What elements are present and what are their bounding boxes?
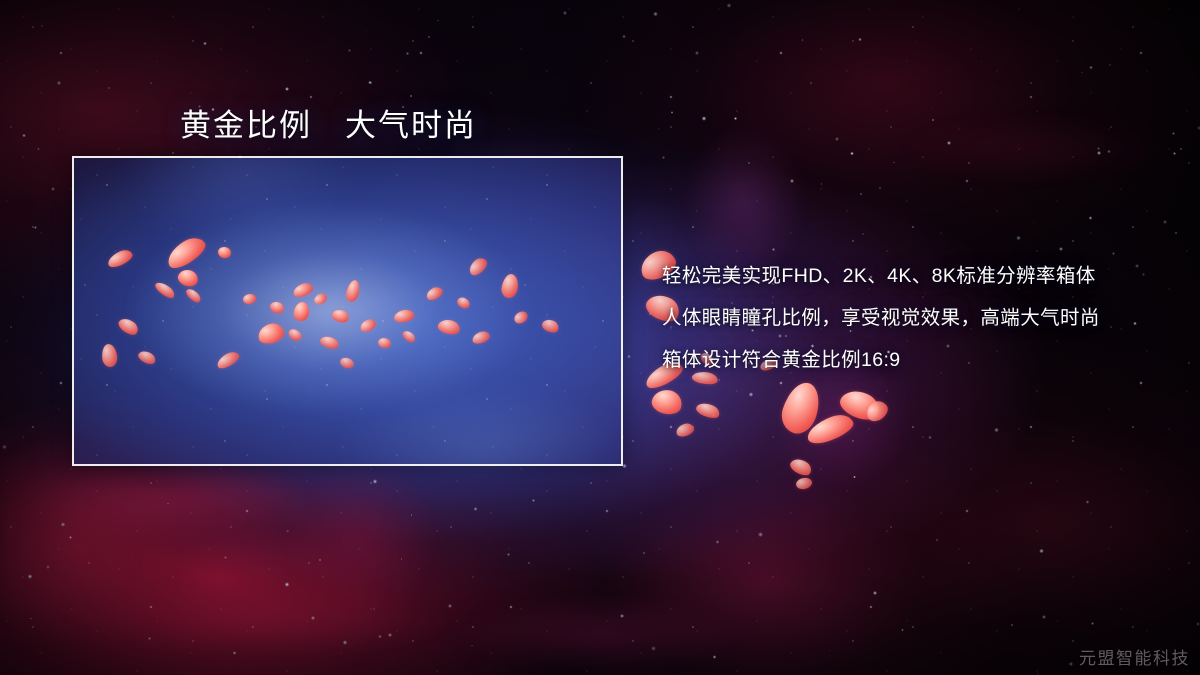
star — [22, 134, 25, 137]
petal — [256, 321, 286, 346]
star — [148, 637, 151, 640]
petal — [312, 291, 328, 306]
star — [712, 414, 715, 417]
star — [311, 616, 316, 621]
star — [893, 162, 895, 164]
framed-nebula-core — [74, 158, 621, 464]
star — [749, 392, 753, 396]
petal — [268, 299, 285, 315]
star — [790, 179, 794, 183]
star — [981, 61, 982, 62]
petal — [339, 356, 356, 370]
star — [1059, 247, 1063, 251]
star — [1107, 150, 1111, 154]
star — [30, 618, 32, 620]
petal — [804, 410, 857, 447]
petal — [345, 279, 362, 303]
framed-nebula-background — [74, 158, 621, 464]
star — [507, 553, 510, 556]
star — [931, 107, 932, 108]
star — [860, 193, 863, 196]
star — [373, 608, 376, 611]
petal — [319, 334, 341, 351]
star — [1086, 500, 1089, 503]
star — [348, 49, 352, 53]
petal — [788, 455, 814, 478]
framed-photo-inner — [74, 158, 621, 464]
star — [862, 233, 864, 235]
petal-group-framed — [74, 158, 621, 464]
petal — [863, 397, 891, 424]
star — [167, 503, 169, 505]
star — [1016, 236, 1020, 240]
star — [34, 226, 37, 229]
star — [627, 355, 631, 359]
star — [203, 42, 206, 45]
star — [1097, 147, 1100, 150]
framed-starfield-small — [74, 158, 621, 464]
petal — [377, 337, 392, 349]
star — [901, 629, 903, 631]
star — [319, 559, 321, 561]
star — [994, 428, 999, 433]
petal — [436, 317, 461, 337]
petal — [512, 309, 530, 326]
star — [1109, 64, 1112, 67]
petal — [163, 232, 210, 272]
star — [947, 141, 951, 145]
petal — [500, 273, 520, 299]
star — [378, 635, 382, 639]
description-line-2: 人体眼睛瞳孔比例，享受视觉效果，高端大气时尚 — [662, 297, 1182, 339]
petal — [217, 246, 232, 259]
star — [343, 640, 347, 644]
star — [649, 313, 651, 315]
petal — [540, 317, 560, 335]
star — [1197, 126, 1200, 130]
star — [57, 81, 61, 85]
petal — [105, 247, 134, 269]
petal — [455, 295, 471, 310]
star — [532, 499, 535, 502]
star — [1196, 622, 1200, 626]
star — [702, 116, 707, 121]
star — [879, 187, 881, 189]
star — [406, 52, 409, 55]
star — [695, 51, 699, 55]
star — [563, 11, 567, 15]
star — [1089, 66, 1092, 69]
star — [662, 156, 666, 160]
star — [51, 187, 55, 191]
star — [1173, 152, 1175, 154]
star — [373, 479, 377, 483]
star — [1042, 615, 1046, 619]
star — [671, 111, 673, 113]
star — [734, 117, 737, 120]
star — [651, 646, 655, 650]
star — [1037, 673, 1039, 675]
petal — [401, 328, 417, 344]
star — [821, 183, 823, 185]
petal — [675, 422, 696, 439]
star — [1163, 220, 1167, 224]
petal — [116, 315, 141, 338]
petal — [293, 301, 310, 322]
petal — [101, 343, 118, 367]
petal — [466, 255, 490, 278]
star — [772, 248, 775, 251]
star — [1011, 624, 1013, 626]
petal — [471, 329, 492, 345]
star — [622, 35, 626, 39]
star — [802, 39, 804, 41]
star — [233, 651, 237, 655]
feature-description: 轻松完美实现FHD、2K、4K、8K标准分辨率箱体 人体眼睛瞳孔比例，享受视觉效… — [662, 255, 1182, 381]
star — [61, 522, 65, 526]
petal — [215, 349, 242, 371]
petal — [424, 285, 444, 302]
star — [46, 565, 50, 569]
star — [366, 30, 368, 32]
description-line-3: 箱体设计符合黄金比例16:9 — [662, 339, 1182, 381]
petal — [358, 317, 377, 334]
star — [620, 614, 624, 618]
petal — [777, 378, 825, 438]
star — [2, 445, 6, 449]
star — [858, 38, 862, 42]
star — [936, 539, 939, 542]
star — [853, 476, 855, 478]
star — [1069, 662, 1074, 667]
framed-starfield-medium — [74, 158, 621, 464]
star — [1097, 151, 1101, 155]
star — [285, 582, 289, 586]
star — [401, 558, 402, 559]
star — [448, 604, 452, 608]
star — [1172, 132, 1175, 135]
star — [287, 530, 289, 532]
petal — [184, 286, 202, 304]
star — [643, 552, 645, 554]
petal — [836, 385, 883, 425]
petal — [286, 327, 303, 343]
star — [437, 20, 438, 21]
star — [224, 556, 227, 559]
star — [411, 514, 413, 516]
star — [928, 436, 931, 439]
star — [716, 540, 719, 543]
star — [1033, 222, 1034, 223]
star — [1081, 72, 1082, 73]
star — [727, 3, 731, 7]
slide-canvas: 黄金比例 大气时尚 轻松完美实现FHD、2K、4K、8K标准分辨率箱体 人体眼睛… — [0, 0, 1200, 675]
page-title: 黄金比例 大气时尚 — [180, 100, 477, 145]
star — [873, 591, 877, 595]
star — [285, 87, 289, 91]
star — [653, 12, 657, 16]
star — [835, 137, 839, 141]
star — [1175, 232, 1178, 235]
petal — [136, 348, 157, 366]
star — [69, 536, 72, 539]
star — [850, 152, 854, 156]
star — [471, 645, 472, 646]
star — [28, 574, 32, 578]
star — [388, 633, 392, 637]
petal — [153, 279, 176, 300]
star — [474, 507, 477, 510]
star — [713, 655, 717, 659]
petal — [393, 309, 414, 324]
framed-photo[interactable] — [72, 156, 623, 466]
petal — [694, 400, 721, 421]
star — [172, 152, 174, 154]
star — [428, 36, 430, 38]
star — [1180, 148, 1182, 150]
company-watermark: 元盟智能科技 — [1079, 644, 1190, 669]
petal — [795, 476, 813, 490]
star — [932, 119, 934, 121]
star — [1091, 622, 1094, 625]
star — [915, 40, 916, 41]
description-line-1: 轻松完美实现FHD、2K、4K、8K标准分辨率箱体 — [662, 255, 1182, 297]
petal — [176, 267, 200, 288]
star — [410, 95, 412, 97]
petal — [650, 387, 685, 418]
star — [1039, 549, 1043, 553]
petal — [242, 293, 257, 305]
star — [758, 532, 762, 536]
star — [41, 25, 43, 27]
star — [368, 81, 372, 85]
star — [108, 87, 110, 89]
framed-nebula-filaments — [74, 158, 621, 464]
petal — [330, 307, 350, 324]
star — [1089, 216, 1093, 220]
star — [829, 650, 830, 651]
star — [37, 148, 39, 150]
petal — [292, 281, 315, 299]
